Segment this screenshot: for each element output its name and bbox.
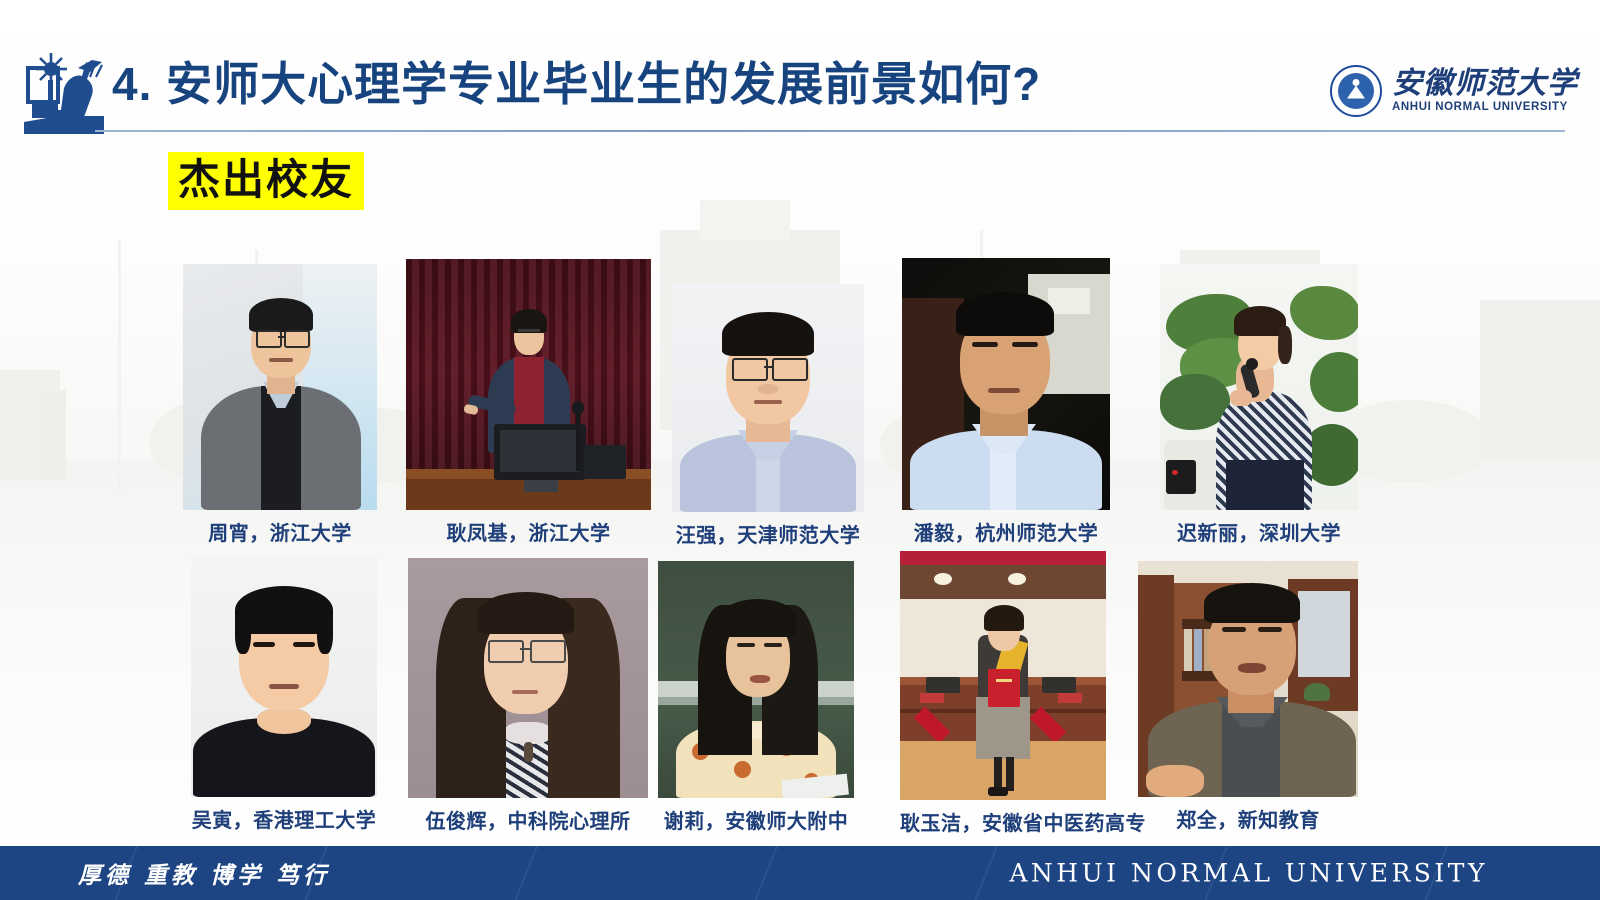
- alumni-gallery: 周宵，浙江大学: [0, 248, 1600, 833]
- alumni-row: 周宵，浙江大学: [0, 248, 1600, 538]
- university-name-cn: 安徽师范大学: [1392, 68, 1578, 100]
- alumni-caption: 迟新丽，深圳大学: [1160, 517, 1358, 546]
- scholar-emblem-icon: [18, 50, 110, 142]
- university-logo: 安徽师范大学 ANHUI NORMAL UNIVERSITY: [1330, 62, 1578, 120]
- slide: 行 知 行 安 师: [0, 0, 1600, 900]
- university-seal-icon: [1330, 65, 1382, 117]
- alumni-photo: [902, 258, 1110, 510]
- section-heading: 杰出校友: [168, 152, 364, 210]
- footer-university-name: ANHUI NORMAL UNIVERSITY: [1009, 859, 1488, 888]
- alumni-card[interactable]: 周宵，浙江大学: [183, 264, 377, 546]
- university-name-en: ANHUI NORMAL UNIVERSITY: [1392, 100, 1578, 114]
- alumni-row: 吴寅，香港理工大学: [0, 543, 1600, 833]
- alumni-card[interactable]: 吴寅，香港理工大学: [191, 558, 377, 833]
- alumni-caption: 耿玉洁，安徽省中医药高专: [900, 807, 1106, 836]
- page-title: 4. 安师大心理学专业毕业生的发展前景如何?: [112, 55, 1242, 113]
- alumni-caption: 周宵，浙江大学: [183, 517, 377, 546]
- alumni-caption: 伍俊辉，中科院心理所: [408, 805, 648, 834]
- alumni-photo: [900, 551, 1106, 800]
- alumni-photo: [1138, 561, 1358, 797]
- alumni-photo: [183, 264, 377, 510]
- alumni-caption: 谢莉，安徽师大附中: [658, 805, 854, 834]
- alumni-caption: 郑全，新知教育: [1138, 804, 1358, 833]
- alumni-photo: [658, 561, 854, 798]
- alumni-photo: [191, 558, 377, 797]
- alumni-photo: [672, 284, 864, 512]
- alumni-caption: 吴寅，香港理工大学: [191, 804, 377, 833]
- alumni-card[interactable]: 伍俊辉，中科院心理所: [408, 558, 648, 834]
- alumni-caption: 耿凤基，浙江大学: [406, 517, 651, 546]
- footer-motto: 厚德 重教 博学 笃行: [78, 856, 330, 890]
- alumni-card[interactable]: 谢莉，安徽师大附中: [658, 561, 854, 834]
- alumni-card[interactable]: 潘毅，杭州师范大学: [902, 258, 1110, 546]
- alumni-card[interactable]: 耿玉洁，安徽省中医药高专: [900, 551, 1106, 836]
- alumni-card[interactable]: 汪强，天津师范大学: [672, 284, 864, 548]
- header-divider: [95, 130, 1565, 132]
- alumni-card[interactable]: 耿凤基，浙江大学: [406, 259, 651, 546]
- slide-header: 4. 安师大心理学专业毕业生的发展前景如何? 安徽师范大学 ANHUI NORM…: [0, 0, 1600, 150]
- alumni-card[interactable]: 郑全，新知教育: [1138, 561, 1358, 833]
- alumni-photo: [408, 558, 648, 798]
- slide-footer: 厚德 重教 博学 笃行 ANHUI NORMAL UNIVERSITY: [0, 846, 1600, 900]
- alumni-card[interactable]: 迟新丽，深圳大学: [1160, 264, 1358, 546]
- alumni-photo: [406, 259, 651, 510]
- alumni-photo: [1160, 264, 1358, 510]
- alumni-caption: 潘毅，杭州师范大学: [902, 517, 1110, 546]
